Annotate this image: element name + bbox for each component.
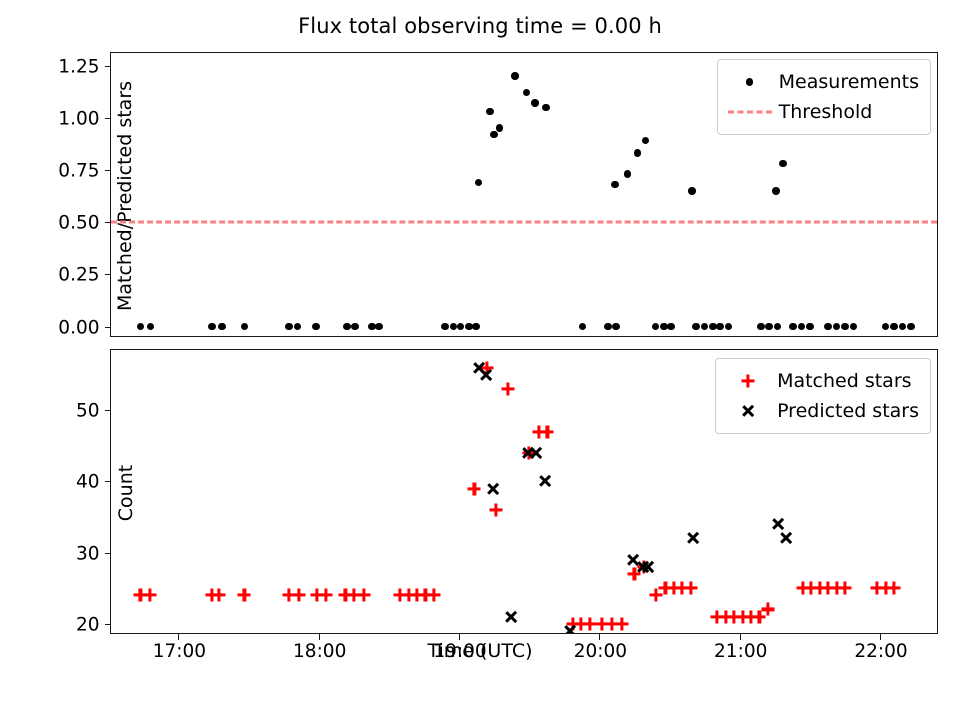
data-point-dot <box>604 323 612 331</box>
bottom-panel-axes: Count 20304050 17:0018:0019:0020:0021:00… <box>110 349 938 634</box>
data-point-dot <box>725 323 733 331</box>
legend-item-measurements: Measurements <box>727 67 919 97</box>
data-point-dot <box>218 323 226 331</box>
data-point-dot <box>757 323 765 331</box>
data-point-plus <box>237 588 252 603</box>
threshold-line <box>111 221 937 224</box>
data-point-x <box>562 623 577 633</box>
page-title: Flux total observing time = 0.00 h <box>0 14 960 38</box>
ytick-top: 0.25 <box>105 274 112 275</box>
data-point-dot <box>634 149 642 157</box>
data-point-dot <box>351 323 359 331</box>
ytick-top: 0.00 <box>105 327 112 328</box>
data-point-dot <box>850 323 858 331</box>
data-point-dot <box>833 323 841 331</box>
threshold-line-icon <box>727 101 773 123</box>
data-point-dot <box>652 323 660 331</box>
ytick-top: 0.75 <box>105 170 112 171</box>
data-point-plus <box>467 481 482 496</box>
data-point-plus <box>760 602 775 617</box>
legend-label-threshold: Threshold <box>773 101 873 123</box>
data-point-dot <box>496 124 504 132</box>
data-point-dot <box>611 181 619 189</box>
ytick-label: 0.50 <box>58 213 99 234</box>
data-point-dot <box>772 187 780 195</box>
ytick-top: 0.50 <box>105 222 112 223</box>
top-panel-legend: Measurements Threshold <box>717 59 931 135</box>
data-point-x <box>779 531 794 546</box>
data-point-x <box>770 517 785 532</box>
data-point-dot <box>375 323 383 331</box>
legend-label-predicted-stars: Predicted stars <box>771 400 919 422</box>
data-point-dot <box>343 323 351 331</box>
data-point-dot <box>716 323 724 331</box>
measurements-marker-icon <box>727 71 773 93</box>
data-point-dot <box>642 137 650 145</box>
data-point-dot <box>511 72 519 80</box>
data-point-x <box>537 474 552 489</box>
data-point-dot <box>688 187 696 195</box>
data-point-dot <box>490 131 498 139</box>
bottom-panel-legend: Matched stars Predicted stars <box>715 358 931 434</box>
data-point-dot <box>285 323 293 331</box>
data-point-dot <box>692 323 700 331</box>
data-point-dot <box>542 104 550 112</box>
data-point-x <box>485 481 500 496</box>
data-point-dot <box>208 323 216 331</box>
data-point-dot <box>789 323 797 331</box>
data-point-dot <box>137 323 145 331</box>
data-point-dot <box>294 323 302 331</box>
data-point-x <box>641 559 656 574</box>
data-point-dot <box>147 323 155 331</box>
data-point-plus <box>143 588 158 603</box>
data-point-dot <box>312 323 320 331</box>
ytick-bottom: 20 <box>105 624 112 625</box>
data-point-x <box>503 609 518 624</box>
data-point-dot <box>798 323 806 331</box>
data-point-plus <box>488 502 503 517</box>
data-point-plus <box>212 588 227 603</box>
ytick-label: 20 <box>76 614 100 635</box>
data-point-dot <box>841 323 849 331</box>
data-point-plus <box>356 588 371 603</box>
data-point-dot <box>890 323 898 331</box>
ytick-label: 1.00 <box>58 108 99 129</box>
ytick-label: 0.75 <box>58 160 99 181</box>
data-point-plus <box>426 588 441 603</box>
data-point-dot <box>523 89 531 97</box>
data-point-dot <box>472 323 480 331</box>
data-point-dot <box>624 170 632 178</box>
ytick-top: 1.00 <box>105 118 112 119</box>
legend-item-predicted-stars: Predicted stars <box>725 396 919 426</box>
data-point-dot <box>701 323 709 331</box>
xtick: 21:00 <box>740 633 741 640</box>
data-point-dot <box>579 323 587 331</box>
data-point-plus <box>614 616 629 631</box>
legend-item-matched-stars: Matched stars <box>725 366 919 396</box>
ytick-label: 1.25 <box>58 56 99 77</box>
data-point-plus <box>501 382 516 397</box>
data-point-x <box>686 531 701 546</box>
data-point-dot <box>531 99 539 107</box>
data-point-x <box>478 367 493 382</box>
data-point-x <box>529 446 544 461</box>
matched-stars-marker-icon <box>725 370 771 392</box>
data-point-dot <box>612 323 620 331</box>
data-point-dot <box>441 323 449 331</box>
data-point-dot <box>779 160 787 168</box>
xtick: 20:00 <box>599 633 600 640</box>
data-point-dot <box>765 323 773 331</box>
data-point-dot <box>774 323 782 331</box>
data-point-dot <box>457 323 465 331</box>
ytick-label: 40 <box>76 472 100 493</box>
data-point-dot <box>667 323 675 331</box>
legend-item-threshold: Threshold <box>727 97 919 127</box>
data-point-dot <box>806 323 814 331</box>
legend-label-matched-stars: Matched stars <box>771 370 911 392</box>
ytick-top: 1.25 <box>105 66 112 67</box>
data-point-plus <box>683 581 698 596</box>
data-point-plus <box>292 588 307 603</box>
xtick: 18:00 <box>319 633 320 640</box>
top-panel-axes: Matched/Predicted stars 0.000.250.500.75… <box>110 52 938 337</box>
ytick-bottom: 50 <box>105 410 112 411</box>
data-point-dot <box>824 323 832 331</box>
data-point-dot <box>475 179 483 187</box>
ytick-label: 0.25 <box>58 265 99 286</box>
data-point-plus <box>837 581 852 596</box>
data-point-plus <box>887 581 902 596</box>
ytick-label: 30 <box>76 543 100 564</box>
ytick-bottom: 40 <box>105 481 112 482</box>
data-point-dot <box>486 108 494 116</box>
xtick: 19:00 <box>459 633 460 640</box>
xaxis-label: Time (UTC) <box>0 640 960 662</box>
predicted-stars-marker-icon <box>725 400 771 422</box>
legend-label-measurements: Measurements <box>773 71 919 93</box>
ytick-bottom: 30 <box>105 553 112 554</box>
data-point-dot <box>882 323 890 331</box>
xtick: 17:00 <box>178 633 179 640</box>
data-point-dot <box>907 323 915 331</box>
data-point-dot <box>899 323 907 331</box>
figure-canvas: Flux total observing time = 0.00 h Match… <box>0 0 960 720</box>
data-point-dot <box>241 323 249 331</box>
ytick-label: 50 <box>76 401 100 422</box>
ytick-label: 0.00 <box>58 317 99 338</box>
data-point-plus <box>540 424 555 439</box>
xtick: 22:00 <box>880 633 881 640</box>
data-point-plus <box>318 588 333 603</box>
